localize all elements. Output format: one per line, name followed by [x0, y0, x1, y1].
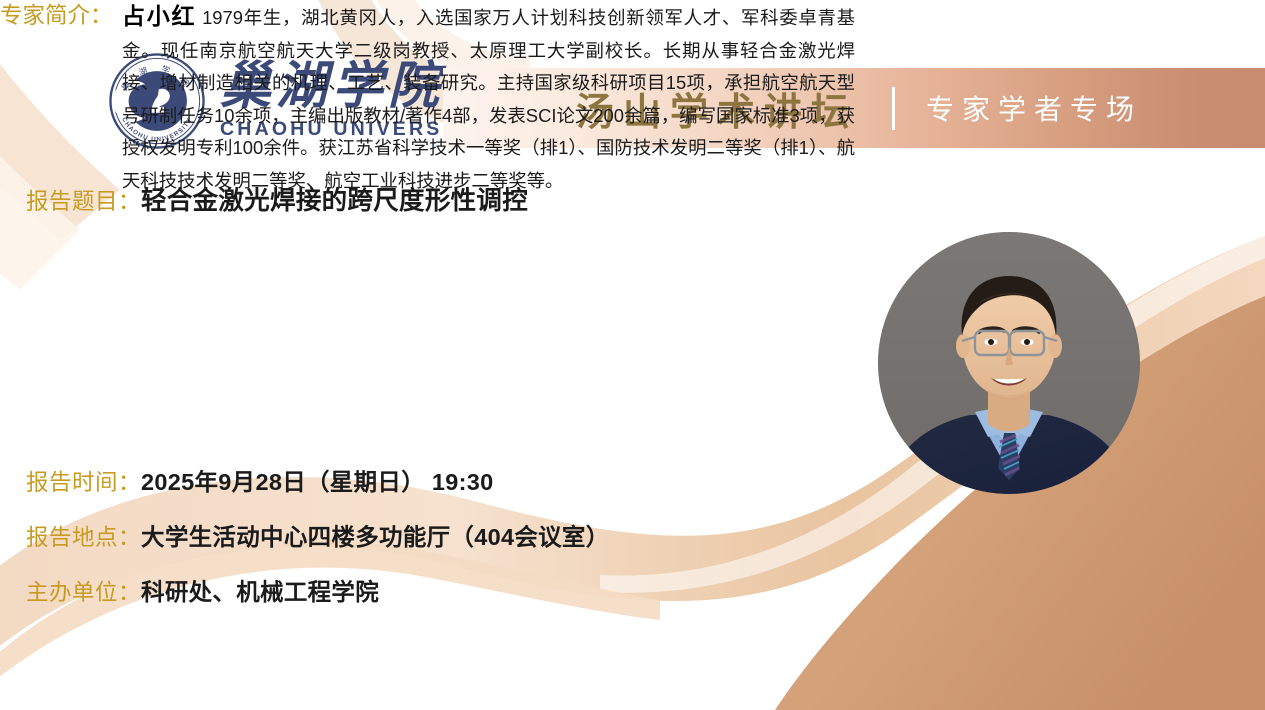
bio-label: 专家简介：	[0, 0, 113, 33]
bio-text: 1979年生，湖北黄冈人，入选国家万人计划科技创新领军人才、军科委卓青基金。现任…	[122, 7, 855, 191]
bio-row: 专家简介： 占小红 1979年生，湖北黄冈人，入选国家万人计划科技创新领军人才、…	[0, 0, 855, 197]
seminar-poster: 1977 巢 湖 学 院 CHAOHU UNIVERSITY 巢湖学院 CHAO…	[0, 0, 1265, 710]
host-row: 主办单位： 科研处、机械工程学院	[26, 573, 379, 607]
topic-label: 报告题目：	[26, 184, 141, 216]
time-label: 报告时间：	[26, 465, 141, 497]
location-value: 大学生活动中心四楼多功能厅（404会议室）	[141, 518, 610, 552]
topic-value: 轻合金激光焊接的跨尺度形性调控	[141, 180, 528, 217]
speaker-name: 占小红	[122, 3, 196, 29]
time-value: 2025年9月28日（星期日） 19:30	[141, 463, 493, 497]
bio-text-block: 占小红 1979年生，湖北黄冈人，入选国家万人计划科技创新领军人才、军科委卓青基…	[122, 0, 855, 197]
host-label: 主办单位：	[26, 575, 141, 607]
location-row: 报告地点： 大学生活动中心四楼多功能厅（404会议室）	[26, 518, 610, 552]
location-label: 报告地点：	[26, 520, 141, 552]
host-value: 科研处、机械工程学院	[141, 573, 379, 607]
speaker-portrait	[878, 232, 1140, 494]
topic-row: 报告题目： 轻合金激光焊接的跨尺度形性调控	[26, 180, 528, 217]
time-row: 报告时间： 2025年9月28日（星期日） 19:30	[26, 463, 493, 497]
